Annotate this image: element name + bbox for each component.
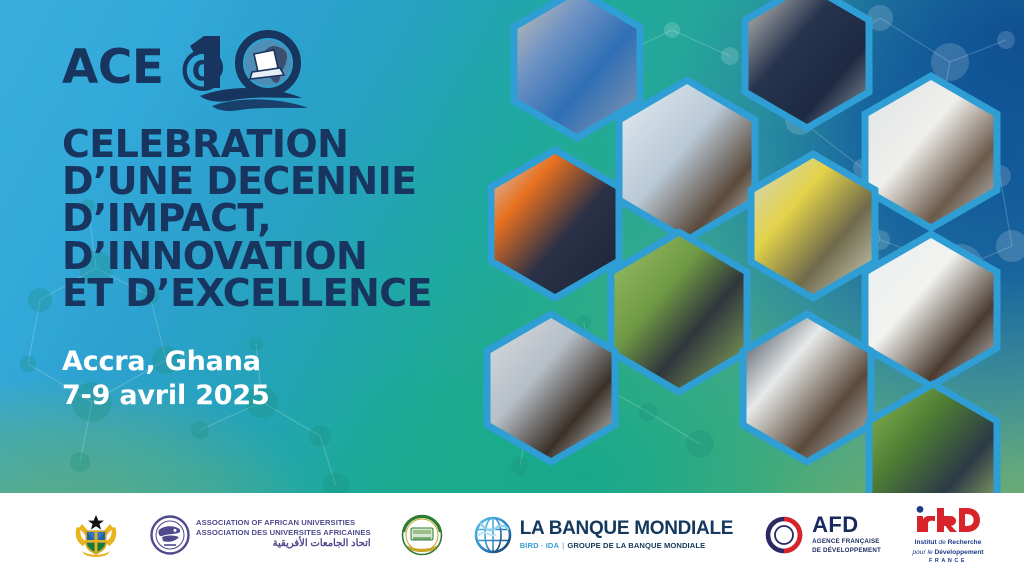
ird-wordmark-icon	[911, 505, 985, 535]
afd-tagline: AGENCE FRANÇAISE DE DÉVELOPPEMENT	[812, 538, 881, 555]
event-dates: 7-9 avril 2025	[62, 379, 482, 413]
poster-text-column: ACE @ CE	[62, 26, 482, 413]
page-title: CELEBRATION D’UNE DECENNIE D’IMPACT, D’I…	[62, 126, 472, 312]
headline-line-2: D’UNE DECENNIE	[62, 163, 472, 200]
world-bank-globe-icon	[473, 515, 513, 555]
logo-world-bank: LA BANQUE MONDIALE BIRD · IDA|GROUPE DE …	[473, 515, 733, 555]
logo-university-council-seal	[401, 514, 443, 556]
wave-swoosh-icon	[200, 88, 308, 111]
aau-emblem-icon	[150, 515, 190, 555]
ird-country: FRANCE	[912, 558, 983, 564]
ird-tagline-line-2: pour le Développement	[912, 548, 983, 558]
event-details: Accra, Ghana 7-9 avril 2025	[62, 345, 482, 413]
aau-name-fr: ASSOCIATION DES UNIVERSITES AFRICAINES	[196, 528, 371, 538]
world-bank-tagline: BIRD · IDA|GROUPE DE LA BANQUE MONDIALE	[520, 541, 733, 550]
aau-logo-text: ASSOCIATION OF AFRICAN UNIVERSITIES ASSO…	[196, 518, 371, 550]
event-location: Accra, Ghana	[62, 345, 482, 379]
hex-tile-laboratory-pair	[743, 314, 871, 462]
ird-tagline-line-1: Institut de Recherche	[912, 538, 983, 548]
aau-name-en: ASSOCIATION OF AFRICAN UNIVERSITIES	[196, 518, 371, 528]
hex-tile-agriculture-field-research	[611, 232, 747, 392]
logo-ten-mark	[182, 26, 357, 114]
afd-name: AFD	[812, 514, 881, 536]
ird-logo-text: Institut de Recherche pour le Développem…	[912, 538, 983, 564]
ird-developpement: Développement	[934, 549, 983, 556]
aau-name-ar: اتحاد الجامعات الأفريقية	[196, 538, 371, 551]
event-poster: ACE @ CE	[0, 0, 1024, 576]
world-bank-bird-ida: BIRD · IDA	[520, 541, 559, 550]
headline-line-1: CELEBRATION	[62, 126, 472, 163]
numeral-one	[190, 36, 220, 88]
hex-tile-harvest-produce	[869, 384, 997, 504]
ird-recherche: Recherche	[948, 539, 982, 546]
hex-tile-computer-lab-training	[745, 0, 869, 128]
hex-tile-microscope-researcher	[619, 80, 755, 240]
afd-ring-icon	[763, 514, 805, 556]
world-bank-group: GROUPE DE LA BANQUE MONDIALE	[567, 541, 705, 550]
sponsor-logos: ASSOCIATION OF AFRICAN UNIVERSITIES ASSO…	[72, 505, 985, 564]
afd-logo-text: AFD AGENCE FRANÇAISE DE DÉVELOPPEMENT	[812, 514, 881, 555]
hex-tile-lab-dissection-work	[865, 234, 997, 386]
afd-tagline-line-1: AGENCE FRANÇAISE	[812, 538, 881, 546]
university-council-seal-icon	[401, 514, 443, 556]
logo-afd: AFD AGENCE FRANÇAISE DE DÉVELOPPEMENT	[763, 514, 881, 556]
ird-de: de	[938, 539, 945, 546]
logo-association-of-african-universities: ASSOCIATION OF AFRICAN UNIVERSITIES ASSO…	[150, 515, 371, 555]
headline-line-3: D’IMPACT,	[62, 200, 472, 237]
logo-ghana-coat-of-arms	[72, 511, 120, 559]
headline-line-4: D’INNOVATION	[62, 238, 472, 275]
ird-pour-le: pour le	[912, 549, 932, 556]
ghana-coat-of-arms-icon	[72, 511, 120, 559]
ace-at-10-logo: ACE @	[62, 26, 362, 110]
collage-svg	[455, 0, 1024, 504]
shield-cross-h	[87, 540, 105, 543]
world-bank-name: LA BANQUE MONDIALE	[520, 519, 733, 539]
black-star-icon	[88, 515, 104, 530]
logo-ird: Institut de Recherche pour le Développem…	[911, 505, 985, 564]
sponsor-logo-bar: ASSOCIATION OF AFRICAN UNIVERSITIES ASSO…	[0, 493, 1024, 576]
headline-line-5: ET D’EXCELLENCE	[62, 275, 472, 312]
hexagon-photo-collage	[455, 0, 1024, 504]
world-bank-separator: |	[562, 541, 564, 550]
afd-tagline-line-2: DE DÉVELOPPEMENT	[812, 547, 881, 555]
hex-tile-engineering-field-work	[751, 154, 875, 298]
ird-institut: Institut	[915, 539, 937, 546]
hex-tile-pharmacy-lab-technicians	[865, 76, 997, 228]
world-bank-logo-text: LA BANQUE MONDIALE BIRD · IDA|GROUPE DE …	[520, 519, 733, 550]
hex-tile-microscope-analysis	[487, 314, 615, 462]
hex-tile-solar-panel-installation	[491, 150, 619, 298]
